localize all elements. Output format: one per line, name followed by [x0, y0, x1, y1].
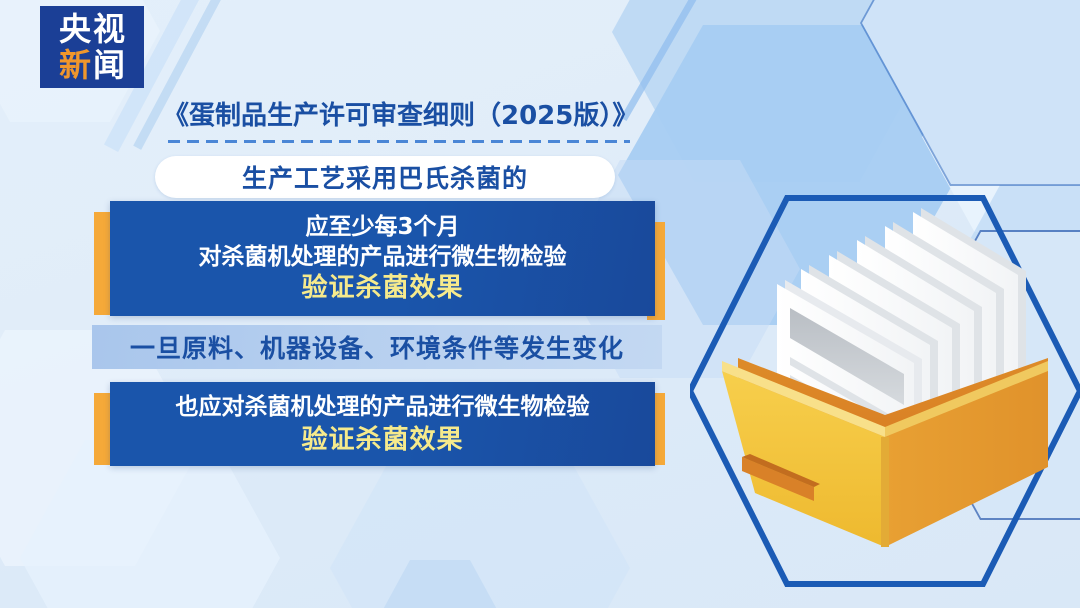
background-hexagon-outline — [860, 0, 1080, 186]
banner-line-emphasis: 验证杀菌效果 — [301, 272, 463, 305]
logo-char-wen: 闻 — [93, 48, 125, 82]
banner-requirement-primary: 应至少每3个月 对杀菌机处理的产品进行微生物检验 验证杀菌效果 — [110, 201, 655, 316]
logo-char-yang: 央 — [59, 12, 91, 46]
banner-condition-label: 一旦原料、机器设备、环境条件等发生变化 — [130, 329, 624, 365]
infographic-canvas: 央 视 新 闻 《蛋制品生产许可审查细则（2025版）》 生产工艺采用巴氏杀菌的… — [0, 0, 1080, 608]
cctv-news-logo: 央 视 新 闻 — [40, 6, 144, 88]
logo-char-shi: 视 — [93, 12, 125, 46]
banner-condition: 一旦原料、机器设备、环境条件等发生变化 — [92, 325, 662, 369]
page-title: 《蛋制品生产许可审查细则（2025版）》 — [163, 101, 633, 131]
banner-line: 对杀菌机处理的产品进行微生物检验 — [199, 242, 567, 272]
banner-line: 也应对杀菌机处理的产品进行微生物检验 — [176, 391, 590, 423]
logo-row-bottom: 新 闻 — [48, 47, 136, 83]
subtitle-pill-label: 生产工艺采用巴氏杀菌的 — [242, 159, 528, 195]
document-archive-box-illustration — [690, 175, 1080, 608]
banner-line-emphasis: 验证杀菌效果 — [301, 423, 463, 457]
logo-char-xin: 新 — [59, 48, 91, 82]
box-front-edge — [881, 437, 889, 547]
banner-requirement-secondary: 也应对杀菌机处理的产品进行微生物检验 验证杀菌效果 — [110, 382, 655, 466]
dashed-divider — [168, 140, 630, 143]
subtitle-pill: 生产工艺采用巴氏杀菌的 — [155, 156, 615, 198]
logo-row-top: 央 视 — [48, 11, 136, 47]
banner-line: 应至少每3个月 — [305, 212, 459, 242]
